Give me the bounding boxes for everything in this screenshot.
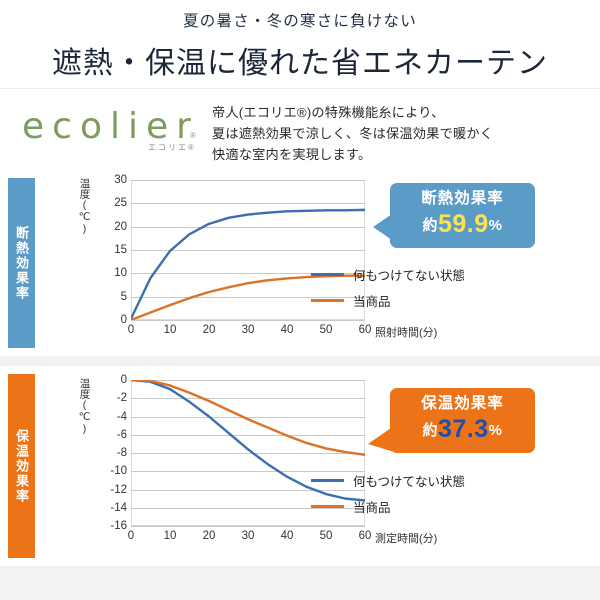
chart2-legend-item-product: 当商品: [311, 497, 465, 516]
panel-insulation: 断熱効果率 温度(℃) 0510152025300102030405060 照射…: [0, 170, 600, 356]
chart2-legend-item-none: 何もつけてない状態: [311, 471, 465, 490]
chart1-y-tick: 20: [114, 221, 127, 233]
chart2-x-tick: 40: [281, 530, 294, 542]
callout-heat-retention-number: 37.3: [438, 415, 489, 443]
callout-insulation-tail-icon: [373, 214, 392, 240]
chart2-gridline: [131, 526, 365, 527]
chart1-gridline: [131, 320, 365, 321]
chart2-legend-label-product: 当商品: [353, 497, 391, 516]
chart2-y-axis-label: 温度(℃): [79, 378, 90, 435]
blue-line-swatch-icon: [311, 273, 344, 276]
callout-heat-retention-title: 保温効果率: [402, 395, 523, 413]
tab-insulation-rate[interactable]: 断熱効果率: [8, 178, 35, 348]
chart1-x-tick: 50: [320, 324, 333, 336]
chart2-y-tick: 0: [121, 374, 127, 386]
chart1-legend-item-none: 何もつけてない状態: [311, 265, 465, 284]
chart1-y-tick: 10: [114, 267, 127, 279]
chart2-x-axis-label: 測定時間(分): [375, 530, 437, 546]
ecolier-logo: ecolier ® エコリエ®: [0, 95, 212, 165]
logo-wordmark: ecolier: [22, 109, 199, 145]
callout-insulation-suffix: %: [489, 217, 503, 234]
chart1-x-axis-label: 照射時間(分): [375, 324, 437, 340]
callout-heat-retention-value: 約37.3%: [402, 415, 523, 444]
chart2-y-tick: -12: [110, 484, 127, 496]
callout-heat-retention: 保温効果率 約37.3%: [390, 388, 535, 453]
chart2-legend-label-none: 何もつけてない状態: [353, 471, 465, 490]
chart1-x-tick: 0: [128, 324, 134, 336]
header-subtitle: 夏の暑さ・冬の寒さに負けない: [183, 9, 417, 31]
chart2-legend: 何もつけてない状態 当商品: [311, 471, 465, 523]
callout-insulation: 断熱効果率 約59.9%: [390, 183, 535, 248]
chart2-x-tick: 50: [320, 530, 333, 542]
chart2-y-tick: -2: [117, 392, 127, 404]
brand-description-line-1: 帝人(エコリエ®)の特殊機能糸により、: [212, 103, 493, 124]
chart1-y-tick: 0: [121, 314, 127, 326]
chart1-x-tick: 10: [164, 324, 177, 336]
chart2-line-当商品: [131, 380, 365, 455]
panel-heat-retention: 保温効果率 温度(℃) 0-2-4-6-8-10-12-14-160102030…: [0, 366, 600, 566]
chart1-x-tick: 30: [242, 324, 255, 336]
chart1-x-tick: 40: [281, 324, 294, 336]
chart1-y-tick: 5: [121, 291, 127, 303]
panel-divider: [0, 356, 600, 366]
chart1-x-tick: 20: [203, 324, 216, 336]
chart2-y-tick: -8: [117, 447, 127, 459]
brand-description-line-2: 夏は遮熱効果で涼しく、冬は保温効果で暖かく: [212, 124, 493, 145]
orange-line-swatch-icon: [311, 505, 344, 508]
blue-line-swatch-icon: [311, 479, 344, 482]
brand-description-line-3: 快適な室内を実現します。: [212, 145, 493, 166]
chart1-y-tick: 25: [114, 197, 127, 209]
chart2-x-tick: 0: [128, 530, 134, 542]
page-header: 夏の暑さ・冬の寒さに負けない 遮熱・保温に優れた省エネカーテン: [0, 0, 600, 88]
chart1-legend-label-none: 何もつけてない状態: [353, 265, 465, 284]
chart2-x-tick: 30: [242, 530, 255, 542]
tab-heat-retention-rate[interactable]: 保温効果率: [8, 374, 35, 558]
chart1-y-tick: 30: [114, 174, 127, 186]
chart1-legend-item-product: 当商品: [311, 291, 465, 310]
panel-insulation-body: 温度(℃) 0510152025300102030405060 照射時間(分) …: [35, 170, 600, 356]
chart2-y-tick: -14: [110, 502, 127, 514]
callout-insulation-title: 断熱効果率: [402, 190, 523, 208]
callout-heat-retention-suffix: %: [489, 422, 503, 439]
callout-heat-retention-tail-icon: [368, 422, 392, 448]
callout-heat-retention-prefix: 約: [422, 422, 438, 439]
panel-heat-retention-body: 温度(℃) 0-2-4-6-8-10-12-14-160102030405060…: [35, 366, 600, 566]
chart1-y-axis-label: 温度(℃): [79, 178, 90, 235]
registered-mark-icon: ®: [190, 131, 196, 140]
chart1-y-tick: 15: [114, 244, 127, 256]
brand-description: 帝人(エコリエ®)の特殊機能糸により、 夏は遮熱効果で涼しく、冬は保温効果で暖か…: [212, 95, 493, 166]
infographic-page: 夏の暑さ・冬の寒さに負けない 遮熱・保温に優れた省エネカーテン ecolier …: [0, 0, 600, 600]
brand-strip: ecolier ® エコリエ® 帝人(エコリエ®)の特殊機能糸により、 夏は遮熱…: [0, 88, 600, 170]
chart2-x-tick: 10: [164, 530, 177, 542]
chart1-x-tick: 60: [359, 324, 372, 336]
orange-line-swatch-icon: [311, 299, 344, 302]
chart2-y-tick: -10: [110, 465, 127, 477]
page-title: 遮熱・保温に優れた省エネカーテン: [52, 38, 548, 82]
chart1-legend-label-product: 当商品: [353, 291, 391, 310]
chart2-y-tick: -16: [110, 520, 127, 532]
callout-insulation-number: 59.9: [438, 210, 489, 238]
callout-insulation-value: 約59.9%: [402, 210, 523, 239]
chart2-x-tick: 60: [359, 530, 372, 542]
logo-katakana-sub: エコリエ®: [148, 142, 196, 153]
callout-insulation-prefix: 約: [422, 217, 438, 234]
chart1-legend: 何もつけてない状態 当商品: [311, 265, 465, 317]
chart2-y-tick: -6: [117, 429, 127, 441]
chart2-x-tick: 20: [203, 530, 216, 542]
chart2-y-tick: -4: [117, 411, 127, 423]
